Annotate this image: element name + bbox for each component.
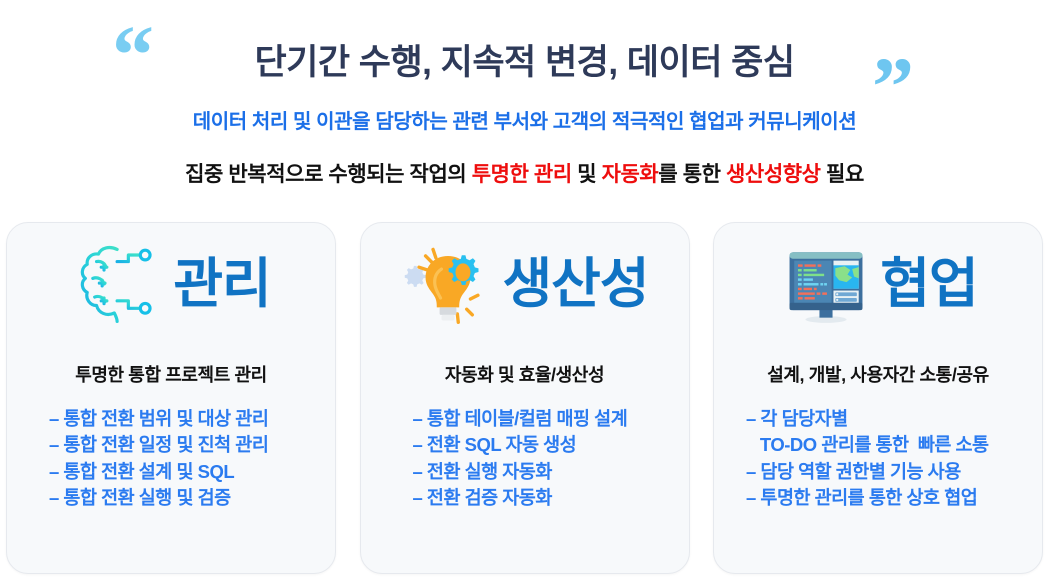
feature-card-row: 관리 투명한 통합 프로젝트 관리 – 통합 전환 범위 및 대상 관리 – 통… bbox=[0, 222, 1049, 574]
feature-card-productivity: 생산성 자동화 및 효율/생산성 – 통합 테이블/컬럼 매핑 설계 – 전환 … bbox=[360, 222, 690, 574]
list-item: – 담당 역할 권한별 기능 사용 bbox=[746, 459, 1042, 485]
list-item: – 각 담당자별 bbox=[746, 406, 1042, 432]
card-subtitle: 투명한 통합 프로젝트 관리 bbox=[7, 361, 335, 387]
brain-circuit-icon bbox=[71, 241, 167, 327]
quote-open-icon: “ bbox=[112, 14, 154, 98]
quote-close-icon: ” bbox=[872, 46, 914, 130]
card-title: 협업 bbox=[880, 257, 977, 311]
list-item: – 통합 전환 일정 및 진척 관리 bbox=[49, 432, 335, 458]
subtitle-segment-3: 를 통한 bbox=[658, 163, 726, 186]
lightbulb-gears-icon bbox=[400, 241, 496, 327]
monitor-dashboard-icon bbox=[778, 241, 874, 327]
feature-card-collaboration: 협업 설계, 개발, 사용자간 소통/공유 – 각 담당자별 TO-DO 관리를… bbox=[713, 222, 1043, 574]
subtitle-segment-4: 필요 bbox=[821, 163, 864, 186]
card-header: 생산성 bbox=[361, 223, 689, 339]
slide-header: “ ” 단기간 수행, 지속적 변경, 데이터 중심 데이터 처리 및 이관을 … bbox=[0, 0, 1049, 222]
list-item: – 전환 실행 자동화 bbox=[413, 459, 689, 485]
subtitle-segment-2: 및 bbox=[572, 163, 602, 186]
feature-card-management: 관리 투명한 통합 프로젝트 관리 – 통합 전환 범위 및 대상 관리 – 통… bbox=[6, 222, 336, 574]
list-item: – 통합 테이블/컬럼 매핑 설계 bbox=[413, 406, 689, 432]
card-title: 관리 bbox=[173, 257, 270, 311]
subtitle-mixed: 집중 반복적으로 수행되는 작업의 투명한 관리 및 자동화를 통한 생산성향상… bbox=[0, 158, 1049, 188]
list-item: – 투명한 관리를 통한 상호 협업 bbox=[746, 485, 1042, 511]
card-bullet-list: – 통합 전환 범위 및 대상 관리 – 통합 전환 일정 및 진척 관리 – … bbox=[7, 406, 335, 511]
list-item: TO-DO 관리를 통한 빠른 소통 bbox=[746, 432, 1042, 458]
list-item: – 통합 전환 범위 및 대상 관리 bbox=[49, 406, 335, 432]
card-subtitle: 자동화 및 효율/생산성 bbox=[361, 361, 689, 387]
list-item: – 통합 전환 설계 및 SQL bbox=[49, 459, 335, 485]
subtitle-highlight-2: 자동화 bbox=[602, 163, 659, 186]
subtitle-highlight-1: 투명한 관리 bbox=[472, 163, 572, 186]
card-subtitle: 설계, 개발, 사용자간 소통/공유 bbox=[714, 361, 1042, 387]
subtitle-segment-1: 집중 반복적으로 수행되는 작업의 bbox=[185, 163, 472, 186]
list-item: – 전환 검증 자동화 bbox=[413, 485, 689, 511]
card-title: 생산성 bbox=[502, 257, 648, 311]
subtitle-highlight-3: 생산성향상 bbox=[726, 163, 821, 186]
list-item: – 전환 SQL 자동 생성 bbox=[413, 432, 689, 458]
card-bullet-list: – 통합 테이블/컬럼 매핑 설계 – 전환 SQL 자동 생성 – 전환 실행… bbox=[361, 406, 689, 511]
card-header: 협업 bbox=[714, 223, 1042, 339]
list-item: – 통합 전환 실행 및 검증 bbox=[49, 485, 335, 511]
card-bullet-list: – 각 담당자별 TO-DO 관리를 통한 빠른 소통 – 담당 역할 권한별 … bbox=[714, 406, 1042, 511]
card-header: 관리 bbox=[7, 223, 335, 339]
